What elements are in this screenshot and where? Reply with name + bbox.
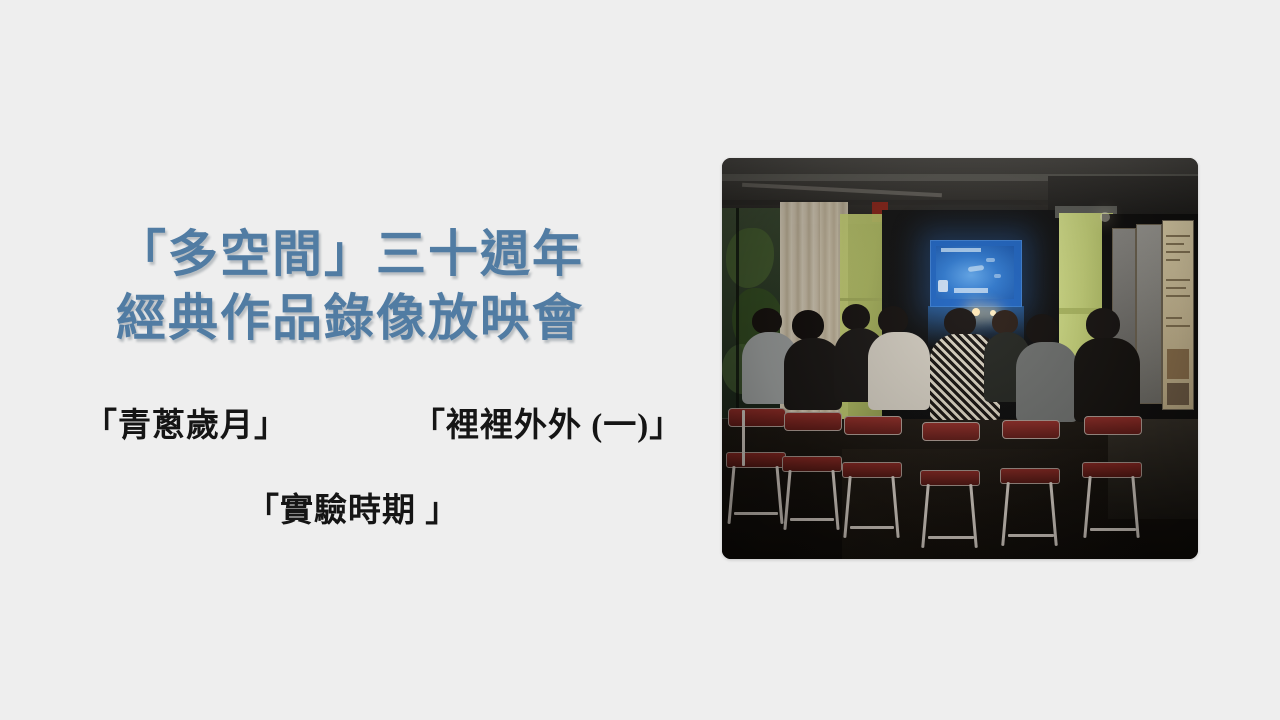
- chair-rail: [850, 526, 894, 529]
- chair-rail: [1090, 528, 1136, 531]
- panel-text-line: [1166, 243, 1184, 245]
- video-highlight: [938, 280, 948, 292]
- presentation-slide: 「多空間」三十週年 經典作品錄像放映會 「青蔥歲月」 「裡裡外外 (一)」 「實…: [0, 0, 1280, 720]
- chair-back: [728, 408, 786, 427]
- panel-text-line: [1166, 235, 1190, 237]
- chair-rail: [790, 518, 834, 521]
- panel-text-line: [1166, 295, 1190, 297]
- ceiling-lamp: [1100, 212, 1110, 222]
- chair-back: [1084, 416, 1142, 435]
- subtitle-item-3: 「實驗時期 」: [246, 489, 459, 533]
- panel-text-line: [1166, 317, 1182, 319]
- video-highlight: [986, 258, 995, 262]
- chair-rail: [1008, 534, 1054, 537]
- exhibition-panel: [1162, 220, 1194, 410]
- chair-rail: [928, 536, 974, 539]
- text-block: 「多空間」三十週年 經典作品錄像放映會 「青蔥歲月」 「裡裡外外 (一)」 「實…: [0, 0, 700, 720]
- video-caption-bar: [954, 288, 988, 293]
- title-line-1: 「多空間」三十週年: [0, 222, 700, 286]
- panel-text-line: [1166, 251, 1190, 253]
- video-highlight: [994, 274, 1001, 278]
- page-title: 「多空間」三十週年 經典作品錄像放映會: [0, 222, 700, 350]
- subtitle-row: 「青蔥歲月」 「裡裡外外 (一)」: [0, 404, 700, 452]
- panel-text-line: [1166, 325, 1190, 327]
- panel-text-line: [1166, 287, 1186, 289]
- person-head: [992, 310, 1018, 334]
- person-body: [1016, 342, 1078, 422]
- person-head: [1086, 308, 1120, 340]
- person-head: [792, 310, 824, 340]
- panel-text-line: [1166, 279, 1190, 281]
- person-head: [878, 306, 908, 334]
- screening-room-photo: [722, 158, 1198, 559]
- person-head: [842, 304, 870, 330]
- person-head: [752, 308, 782, 334]
- chair-rail: [734, 512, 778, 515]
- panel-image: [1167, 349, 1189, 379]
- chair-leg: [742, 410, 745, 466]
- video-caption-bar: [941, 248, 981, 252]
- panel-text-line: [1166, 259, 1180, 261]
- panel-image: [1167, 383, 1189, 405]
- subtitle-item-2: 「裡裡外外 (一)」: [412, 404, 683, 448]
- chair-back: [784, 412, 842, 431]
- chair-back: [1002, 420, 1060, 439]
- photo-scene: [722, 158, 1198, 559]
- person-body: [1074, 338, 1140, 422]
- chair-back: [844, 416, 902, 435]
- person-head: [1026, 314, 1058, 344]
- person-head: [944, 308, 976, 336]
- subtitle-item-1: 「青蔥歲月」: [84, 404, 288, 448]
- chair-back: [922, 422, 980, 441]
- person-body: [868, 332, 930, 410]
- title-line-2: 經典作品錄像放映會: [0, 286, 700, 350]
